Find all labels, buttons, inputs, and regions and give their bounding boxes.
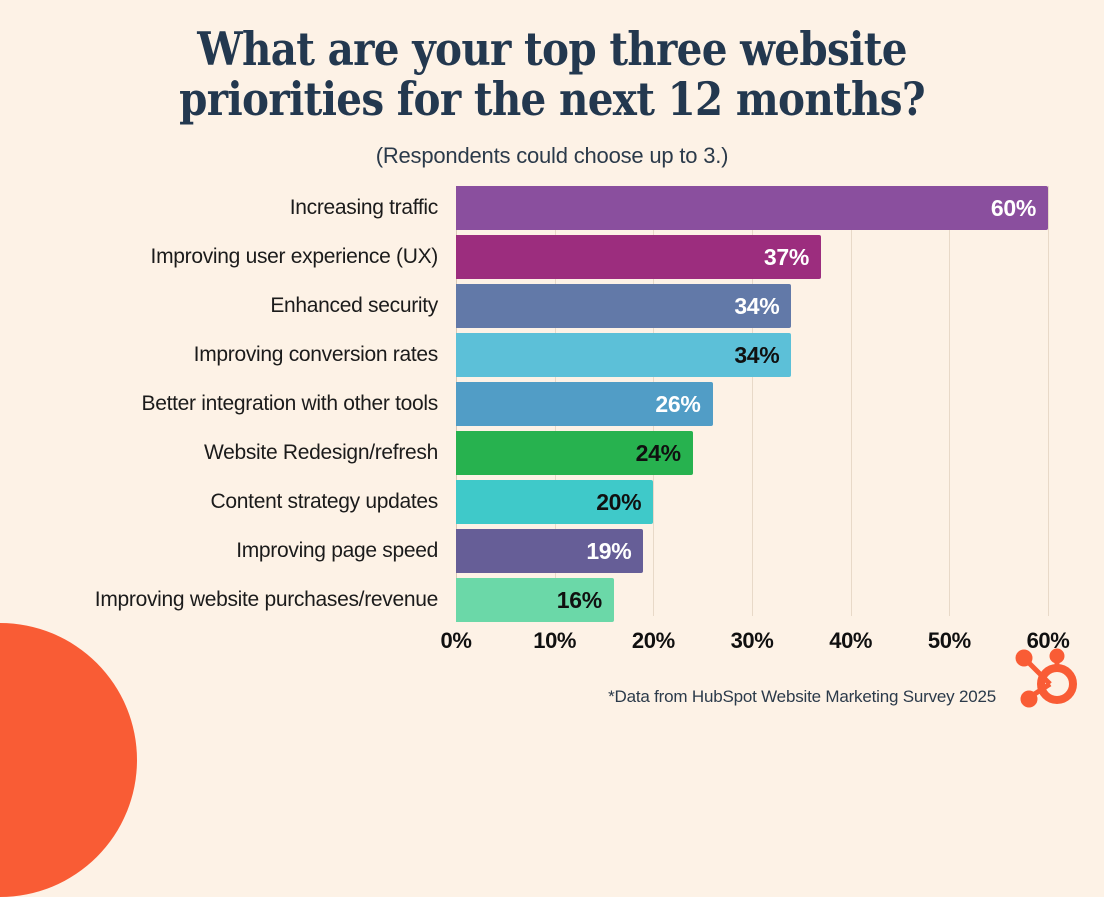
x-axis-tick-label: 30%	[731, 628, 774, 654]
bar	[456, 186, 1048, 230]
source-note: *Data from HubSpot Website Marketing Sur…	[0, 687, 1104, 707]
gridline-60%	[1048, 186, 1049, 616]
bar-value-label: 34%	[723, 333, 779, 377]
bar-category-label: Enhanced security	[0, 284, 438, 328]
bar-category-label: Content strategy updates	[0, 480, 438, 524]
x-axis: 0%10%20%30%40%50%60%	[456, 628, 1048, 658]
bar-row: Website Redesign/refresh24%	[456, 431, 1048, 475]
bar-value-label: 60%	[980, 186, 1036, 230]
bar-row: Better integration with other tools26%	[456, 382, 1048, 426]
bar-category-label: Improving website purchases/revenue	[0, 578, 438, 622]
title-line-2: priorities for the next 12 months?	[66, 74, 1038, 124]
bar-row: Improving page speed19%	[456, 529, 1048, 573]
bar-row: Improving user experience (UX)37%	[456, 235, 1048, 279]
bar-value-label: 19%	[575, 529, 631, 573]
plot-area: Increasing traffic60%Improving user expe…	[456, 186, 1048, 616]
bar-row: Improving conversion rates34%	[456, 333, 1048, 377]
x-axis-tick-label: 50%	[928, 628, 971, 654]
bar-row: Improving website purchases/revenue16%	[456, 578, 1048, 622]
bar-chart: Increasing traffic60%Improving user expe…	[0, 186, 1104, 626]
bar-value-label: 34%	[723, 284, 779, 328]
bar-category-label: Website Redesign/refresh	[0, 431, 438, 475]
bar-row: Content strategy updates20%	[456, 480, 1048, 524]
title-line-1: What are your top three website	[66, 24, 1038, 74]
bar-category-label: Improving conversion rates	[0, 333, 438, 377]
bar-value-label: 37%	[753, 235, 809, 279]
x-axis-tick-label: 10%	[533, 628, 576, 654]
x-axis-tick-label: 20%	[632, 628, 675, 654]
hubspot-sprocket-logo	[1008, 642, 1082, 716]
bar-rows: Increasing traffic60%Improving user expe…	[456, 186, 1048, 616]
decorative-corner-circle	[0, 623, 137, 897]
bar-value-label: 26%	[645, 382, 701, 426]
infographic-root: What are your top three website prioriti…	[0, 0, 1104, 736]
bar-value-label: 20%	[585, 480, 641, 524]
x-axis-tick-label: 40%	[829, 628, 872, 654]
bar-category-label: Better integration with other tools	[0, 382, 438, 426]
chart-subtitle: (Respondents could choose up to 3.)	[0, 143, 1104, 169]
bar-category-label: Improving page speed	[0, 529, 438, 573]
bar-value-label: 16%	[546, 578, 602, 622]
x-axis-tick-label: 0%	[441, 628, 472, 654]
bar-category-label: Increasing traffic	[0, 186, 438, 230]
bar-row: Enhanced security34%	[456, 284, 1048, 328]
bar-category-label: Improving user experience (UX)	[0, 235, 438, 279]
bar-row: Increasing traffic60%	[456, 186, 1048, 230]
bar-value-label: 24%	[625, 431, 681, 475]
page-title: What are your top three website prioriti…	[0, 24, 1104, 124]
